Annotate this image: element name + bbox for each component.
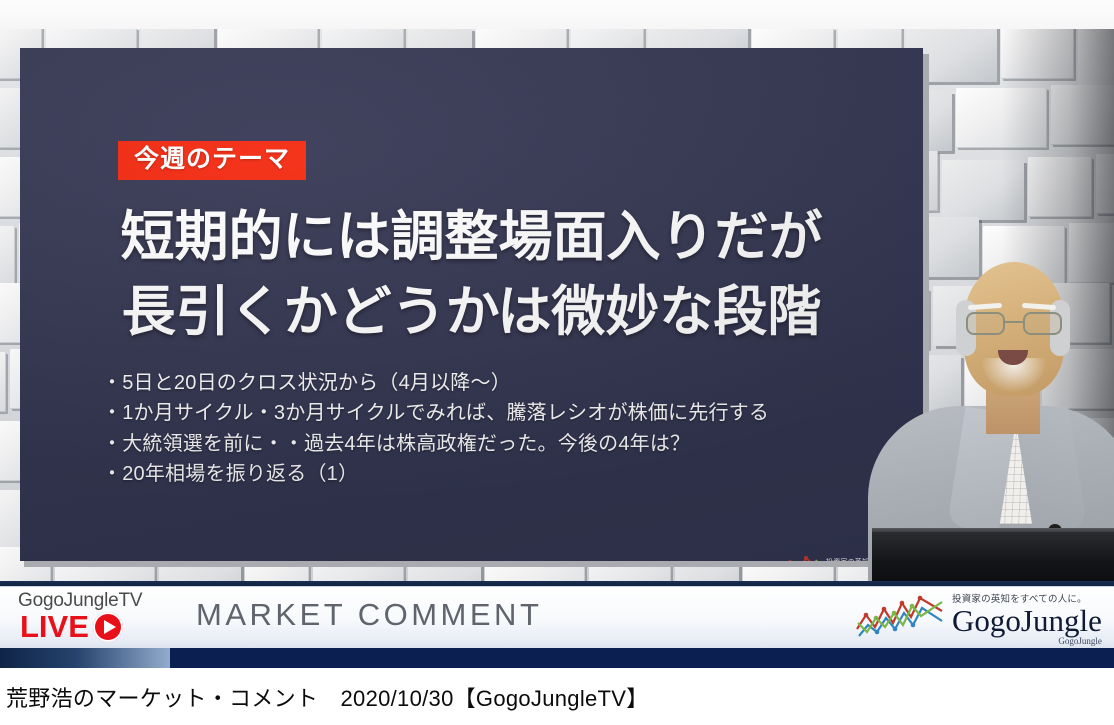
desk-laptop (872, 532, 1114, 582)
program-title: MARKET COMMENT (196, 597, 542, 633)
headline-line-1: 短期的には調整場面入りだが (121, 207, 823, 267)
presentation-slide: 今週のテーマ 短期的には調整場面入りだが 長引くかどうかは微妙な段階 ・5日と2… (20, 48, 923, 561)
bullet-item: ・20年相場を振り返る（1） (102, 459, 902, 489)
live-label: LIVE (20, 611, 89, 642)
live-indicator: LIVE (20, 611, 123, 642)
bullet-item: ・5日と20日のクロス状況から（4月以降〜） (102, 368, 902, 398)
headline-line-2: 長引くかどうかは微妙な段階 (20, 275, 923, 350)
banner-logo-brand: GogoJungle (952, 605, 1102, 636)
slide-bullet-list: ・5日と20日のクロス状況から（4月以降〜） ・1か月サイクル・3か月サイクルで… (102, 368, 902, 490)
video-player-frame[interactable]: 今週のテーマ 短期的には調整場面入りだが 長引くかどうかは微妙な段階 ・5日と2… (0, 0, 1114, 668)
slide-headline: 短期的には調整場面入りだが 長引くかどうかは微妙な段階 (20, 200, 923, 349)
top-light-strip (0, 0, 1114, 29)
video-title: 荒野浩のマーケット・コメント 2020/10/30【GogoJungleTV】 (0, 681, 649, 713)
theme-badge: 今週のテーマ (118, 141, 306, 180)
bullet-item: ・大統領選を前に・・過去4年は株高政権だった。今後の4年は？ (102, 429, 902, 459)
bullet-item: ・1か月サイクル・3か月サイクルでみれば、騰落レシオが株価に先行する (102, 398, 902, 428)
wall-tile (0, 352, 6, 412)
zigzag-chart-icon (854, 593, 946, 643)
banner-gogojungle-logo: 投資家の英知をすべての人に。 GogoJungle GogoJungle (854, 590, 1106, 646)
bottom-bar-navy (170, 648, 1114, 668)
zigzag-chart-icon (748, 552, 820, 561)
screenshot-root: 今週のテーマ 短期的には調整場面入りだが 長引くかどうかは微妙な段階 ・5日と2… (0, 0, 1114, 725)
video-caption-bar: 荒野浩のマーケット・コメント 2020/10/30【GogoJungleTV】 (0, 668, 1114, 725)
live-badge-group: GogoJungleTV LIVE (12, 589, 172, 647)
bottom-bar-gradient (0, 648, 170, 668)
wall-tile (0, 226, 15, 286)
glasses-icon (966, 312, 1062, 336)
play-icon[interactable] (93, 612, 123, 642)
lower-third-banner: GogoJungleTV LIVE MARKET COMMENT (0, 586, 1114, 648)
